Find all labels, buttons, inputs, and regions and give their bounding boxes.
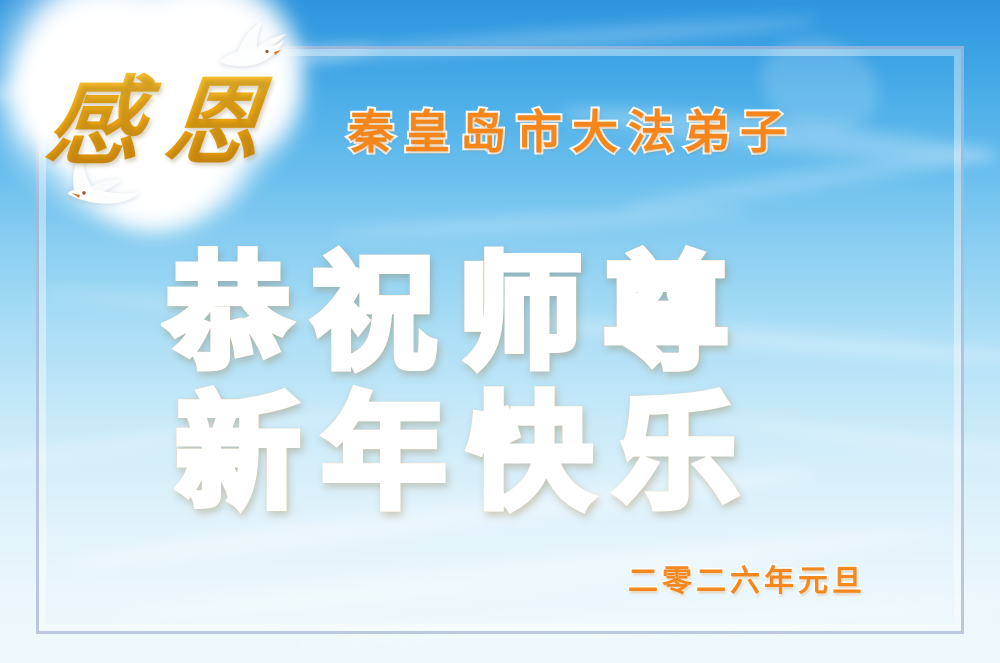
cloud-wisp bbox=[300, 592, 1000, 655]
gratitude-emblem-text: 感恩 bbox=[41, 44, 292, 183]
subtitle-sender-text: 秦皇岛市大法弟子 bbox=[348, 96, 796, 162]
main-message-line-2: 新年快乐 bbox=[176, 352, 760, 532]
greeting-card: 感恩 秦皇岛市大法弟子 恭祝师尊 新年快乐 二零二六年元旦 bbox=[0, 0, 1000, 663]
date-text: 二零二六年元旦 bbox=[628, 556, 866, 600]
cloud-wisp bbox=[300, 12, 820, 66]
